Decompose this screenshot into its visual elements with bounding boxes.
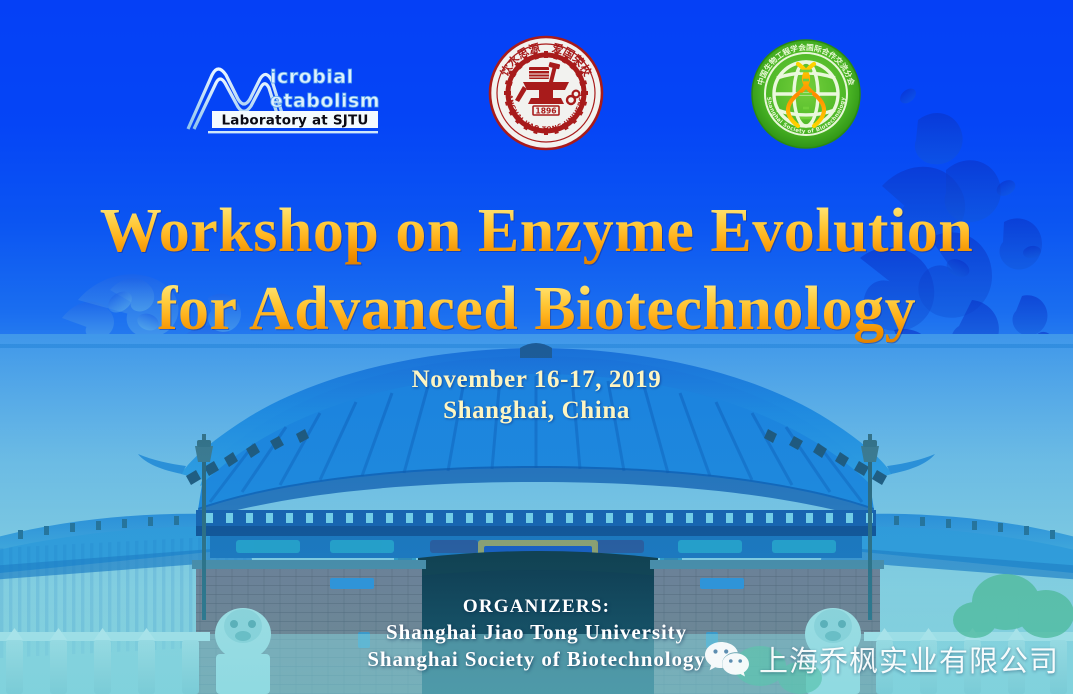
event-details: November 16-17, 2019 Shanghai, China: [0, 364, 1073, 426]
event-location: Shanghai, China: [0, 395, 1073, 426]
shanghai-society-of-biotechnology-logo: 中国生物工程学会国际合作交流分会 Shanghai Society of Bio…: [750, 38, 862, 150]
microbial-metabolism-lab-logo: icrobial etabolism Laboratory at SJTU ic…: [182, 53, 382, 143]
poster-title: Workshop on Enzyme Evolution for Advance…: [0, 192, 1073, 348]
title-line-2: for Advanced Biotechnology: [0, 270, 1073, 348]
svg-text:etabolism: etabolism: [270, 90, 380, 112]
svg-text:Laboratory at SJTU: Laboratory at SJTU: [221, 113, 368, 129]
wechat-watermark: 上海乔枫实业有限公司: [705, 638, 1059, 680]
svg-text:icrobial: icrobial: [270, 66, 354, 88]
logo-row: icrobial etabolism Laboratory at SJTU ic…: [0, 26, 1073, 166]
sjtu-year: 1896: [535, 107, 556, 116]
organizers-heading: ORGANIZERS:: [0, 595, 1073, 619]
conference-poster: 交 通 大 学: [0, 0, 1073, 694]
title-line-1: Workshop on Enzyme Evolution: [0, 192, 1073, 270]
wechat-account-name: 上海乔枫实业有限公司: [759, 638, 1059, 680]
event-date: November 16-17, 2019: [0, 364, 1073, 395]
wechat-icon: [705, 640, 749, 678]
sjtu-seal-logo: 1896 饮水思源 爱国荣校 SHANGHAI JIAO TONG UNIVER…: [487, 34, 605, 152]
